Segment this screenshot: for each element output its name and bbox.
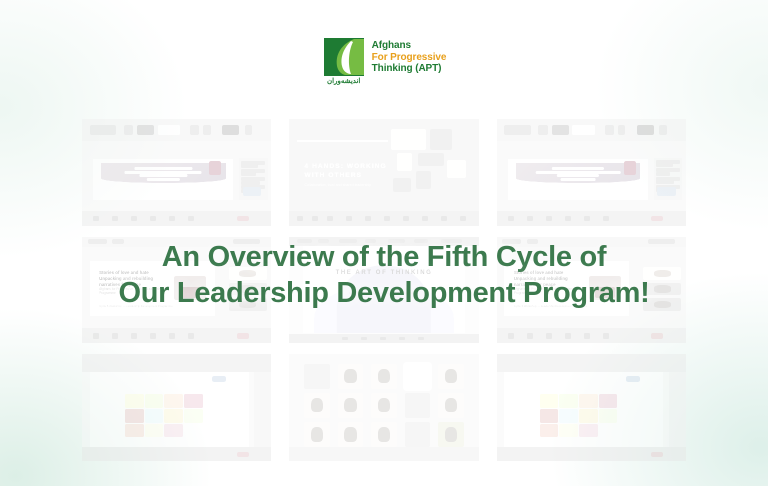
logo-script-text: اندیشه‌وران [327,77,360,86]
call-controls-bar[interactable] [82,328,271,343]
slide-accent-chip [209,161,221,175]
page-title-line-2: Our Leadership Development Program! [0,275,768,311]
sticky-note[interactable] [599,394,618,408]
call-controls-bar[interactable] [289,211,478,226]
slide-accent-chip [624,161,636,175]
dark-slide: 4 HANDS: WORKING WITH OTHERS Collaborati… [289,119,478,226]
sticky-note[interactable] [540,394,559,408]
sticky-note-board[interactable] [540,394,637,438]
chat-panel[interactable] [654,158,682,200]
slide-area [93,159,233,199]
participant-tile[interactable] [405,393,430,418]
meeting-toolbar [497,354,686,372]
sticky-note[interactable] [579,394,598,408]
participant-tile[interactable] [393,178,410,193]
logo-line-1: Afghans [372,40,447,52]
gallery-view [289,354,478,461]
page-title: An Overview of the Fifth Cycle of Our Le… [0,239,768,311]
sticky-note[interactable] [618,394,637,408]
sticky-note[interactable] [579,424,598,438]
active-speaker-tile[interactable] [405,364,430,389]
app-canvas [497,141,686,210]
sticky-note[interactable] [204,409,223,423]
sticky-note[interactable] [125,394,144,408]
sticky-note[interactable] [125,424,144,438]
thumbnail-top-left[interactable] [82,119,271,226]
sticky-note[interactable] [145,409,164,423]
sticky-note[interactable] [559,394,578,408]
logo-wordmark: Afghans For Progressive Thinking (APT) [372,38,447,75]
whiteboard-share-button[interactable] [626,376,640,382]
slide-hero-banner [101,163,225,184]
participant-tile[interactable] [438,422,463,447]
participant-tiles [390,128,477,209]
whiteboard-canvas[interactable] [504,372,663,447]
slide-hero-banner [516,163,640,184]
app-toolbar [497,119,686,141]
sticky-note[interactable] [125,409,144,423]
meeting-toolbar [82,354,271,372]
participant-tile[interactable] [416,171,432,189]
slide-title: 4 HANDS: WORKING WITH OTHERS [304,162,395,180]
participant-rail[interactable] [669,372,686,447]
page-title-line-1: An Overview of the Fifth Cycle of [0,239,768,275]
sticky-note-board[interactable] [125,394,222,438]
app-canvas [82,141,271,210]
participant-tile[interactable] [438,364,463,389]
chat-panel[interactable] [239,158,267,200]
end-call-button[interactable] [237,452,249,457]
logo-line-2: For Progressive [372,52,447,64]
sticky-note[interactable] [540,424,559,438]
slide-divider [297,140,388,142]
page-root: اندیشه‌وران Afghans For Progressive Thin… [0,0,768,486]
flame-leaf-icon [324,38,364,76]
apt-logo[interactable]: اندیشه‌وران Afghans For Progressive Thin… [322,38,447,86]
sticky-note[interactable] [204,424,223,438]
chat-send-button[interactable] [657,187,676,196]
whiteboard-tool-rail[interactable] [91,387,102,447]
participant-tile[interactable] [304,364,329,389]
logo-mark: اندیشه‌وران [322,38,366,86]
end-call-button[interactable] [651,452,663,457]
sticky-note[interactable] [164,409,183,423]
sticky-note[interactable] [618,424,637,438]
call-controls-bar[interactable] [497,211,686,226]
participant-tile[interactable] [371,364,396,389]
sticky-note[interactable] [145,424,164,438]
call-controls-bar[interactable] [497,328,686,343]
sticky-note[interactable] [559,424,578,438]
call-controls-bar[interactable] [82,211,271,226]
slide-subtitle: Collaboration, trust and shared leadersh… [304,183,387,188]
app-toolbar [82,119,271,141]
participant-grid [304,364,463,447]
sticky-note[interactable] [618,409,637,423]
participant-tile[interactable] [338,393,363,418]
sticky-note[interactable] [599,409,618,423]
thumbnail-top-right[interactable] [497,119,686,226]
sticky-note[interactable] [579,409,598,423]
sticky-note[interactable] [145,394,164,408]
thumbnail-bottom-center[interactable] [289,354,478,461]
whiteboard-canvas[interactable] [90,372,249,447]
participant-tile[interactable] [447,160,466,178]
end-call-button[interactable] [651,333,663,338]
end-call-button[interactable] [237,216,249,221]
sticky-note[interactable] [540,409,559,423]
participant-tile[interactable] [430,129,453,150]
logo-line-3: Thinking (APT) [372,63,447,75]
call-controls-bar[interactable] [82,447,271,461]
chat-send-button[interactable] [243,187,262,196]
sticky-note[interactable] [184,409,203,423]
end-call-button[interactable] [651,216,663,221]
sticky-note[interactable] [184,394,203,408]
thumbnail-bottom-left[interactable] [82,354,271,461]
end-call-button[interactable] [237,333,249,338]
participant-tile[interactable] [304,393,329,418]
participant-tile[interactable] [438,393,463,418]
whiteboard-tool-rail[interactable] [505,387,516,447]
sticky-note[interactable] [204,394,223,408]
participant-tile[interactable] [405,422,430,447]
participant-tile[interactable] [391,129,426,150]
whiteboard-share-button[interactable] [212,376,226,382]
sticky-note[interactable] [164,424,183,438]
slide-controls-bar[interactable] [289,334,478,344]
header-logo-bar: اندیشه‌وران Afghans For Progressive Thin… [0,38,768,86]
participant-tile[interactable] [418,153,444,166]
participant-rail[interactable] [254,372,271,447]
thumbnail-bottom-right[interactable] [497,354,686,461]
call-controls-bar[interactable] [289,447,478,461]
thumbnail-top-center[interactable]: 4 HANDS: WORKING WITH OTHERS Collaborati… [289,119,478,226]
call-controls-bar[interactable] [497,447,686,461]
slide-area [508,159,648,199]
sticky-note[interactable] [599,424,618,438]
sticky-note[interactable] [184,424,203,438]
sticky-note[interactable] [559,409,578,423]
participant-tile[interactable] [371,393,396,418]
participant-tile[interactable] [371,422,396,447]
sticky-note[interactable] [164,394,183,408]
participant-tile[interactable] [338,364,363,389]
participant-tile[interactable] [338,422,363,447]
participant-tile[interactable] [304,422,329,447]
participant-tile[interactable] [397,153,413,171]
